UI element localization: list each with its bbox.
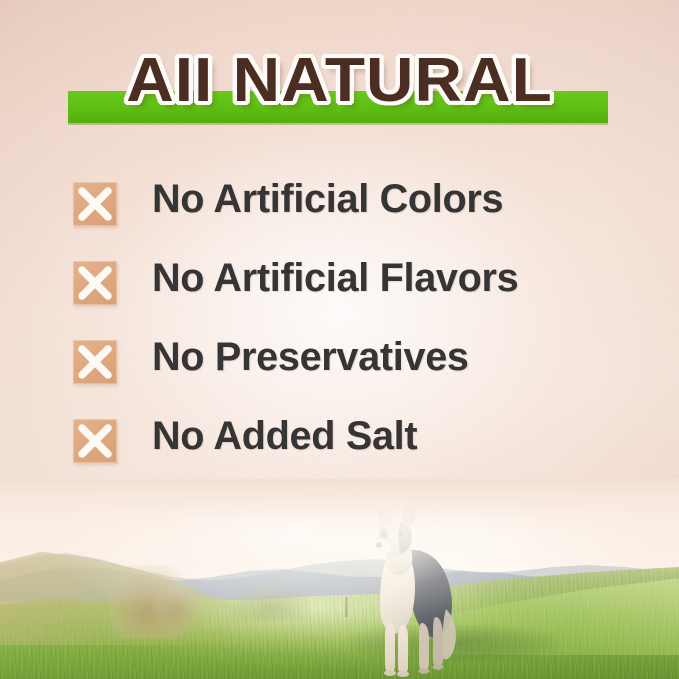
- x-mark-icon: [73, 419, 117, 463]
- shrub: [232, 587, 310, 621]
- bush-secondary: [150, 583, 206, 631]
- grass-field: [0, 567, 679, 679]
- x-mark-icon: [73, 182, 117, 226]
- list-item-label: No Artificial Colors: [152, 172, 503, 226]
- x-mark-icon: [73, 340, 117, 384]
- list-item-label: No Added Salt: [152, 409, 417, 463]
- dog-silhouette: [348, 505, 476, 677]
- list-item: No Artificial Colors: [0, 170, 679, 249]
- list-item-label: No Artificial Flavors: [152, 251, 518, 305]
- dog-in-field-photo: [0, 479, 679, 679]
- benefits-list: No Artificial Colors No Artificial Flavo…: [0, 170, 679, 486]
- list-item: No Preservatives: [0, 328, 679, 407]
- headline-green-banner: [68, 91, 608, 123]
- x-mark-icon: [73, 261, 117, 305]
- list-item: No Added Salt: [0, 407, 679, 486]
- all-natural-poster: AII NATURAL No Artificial Colors: [0, 0, 679, 679]
- list-item: No Artificial Flavors: [0, 249, 679, 328]
- list-item-label: No Preservatives: [152, 330, 469, 384]
